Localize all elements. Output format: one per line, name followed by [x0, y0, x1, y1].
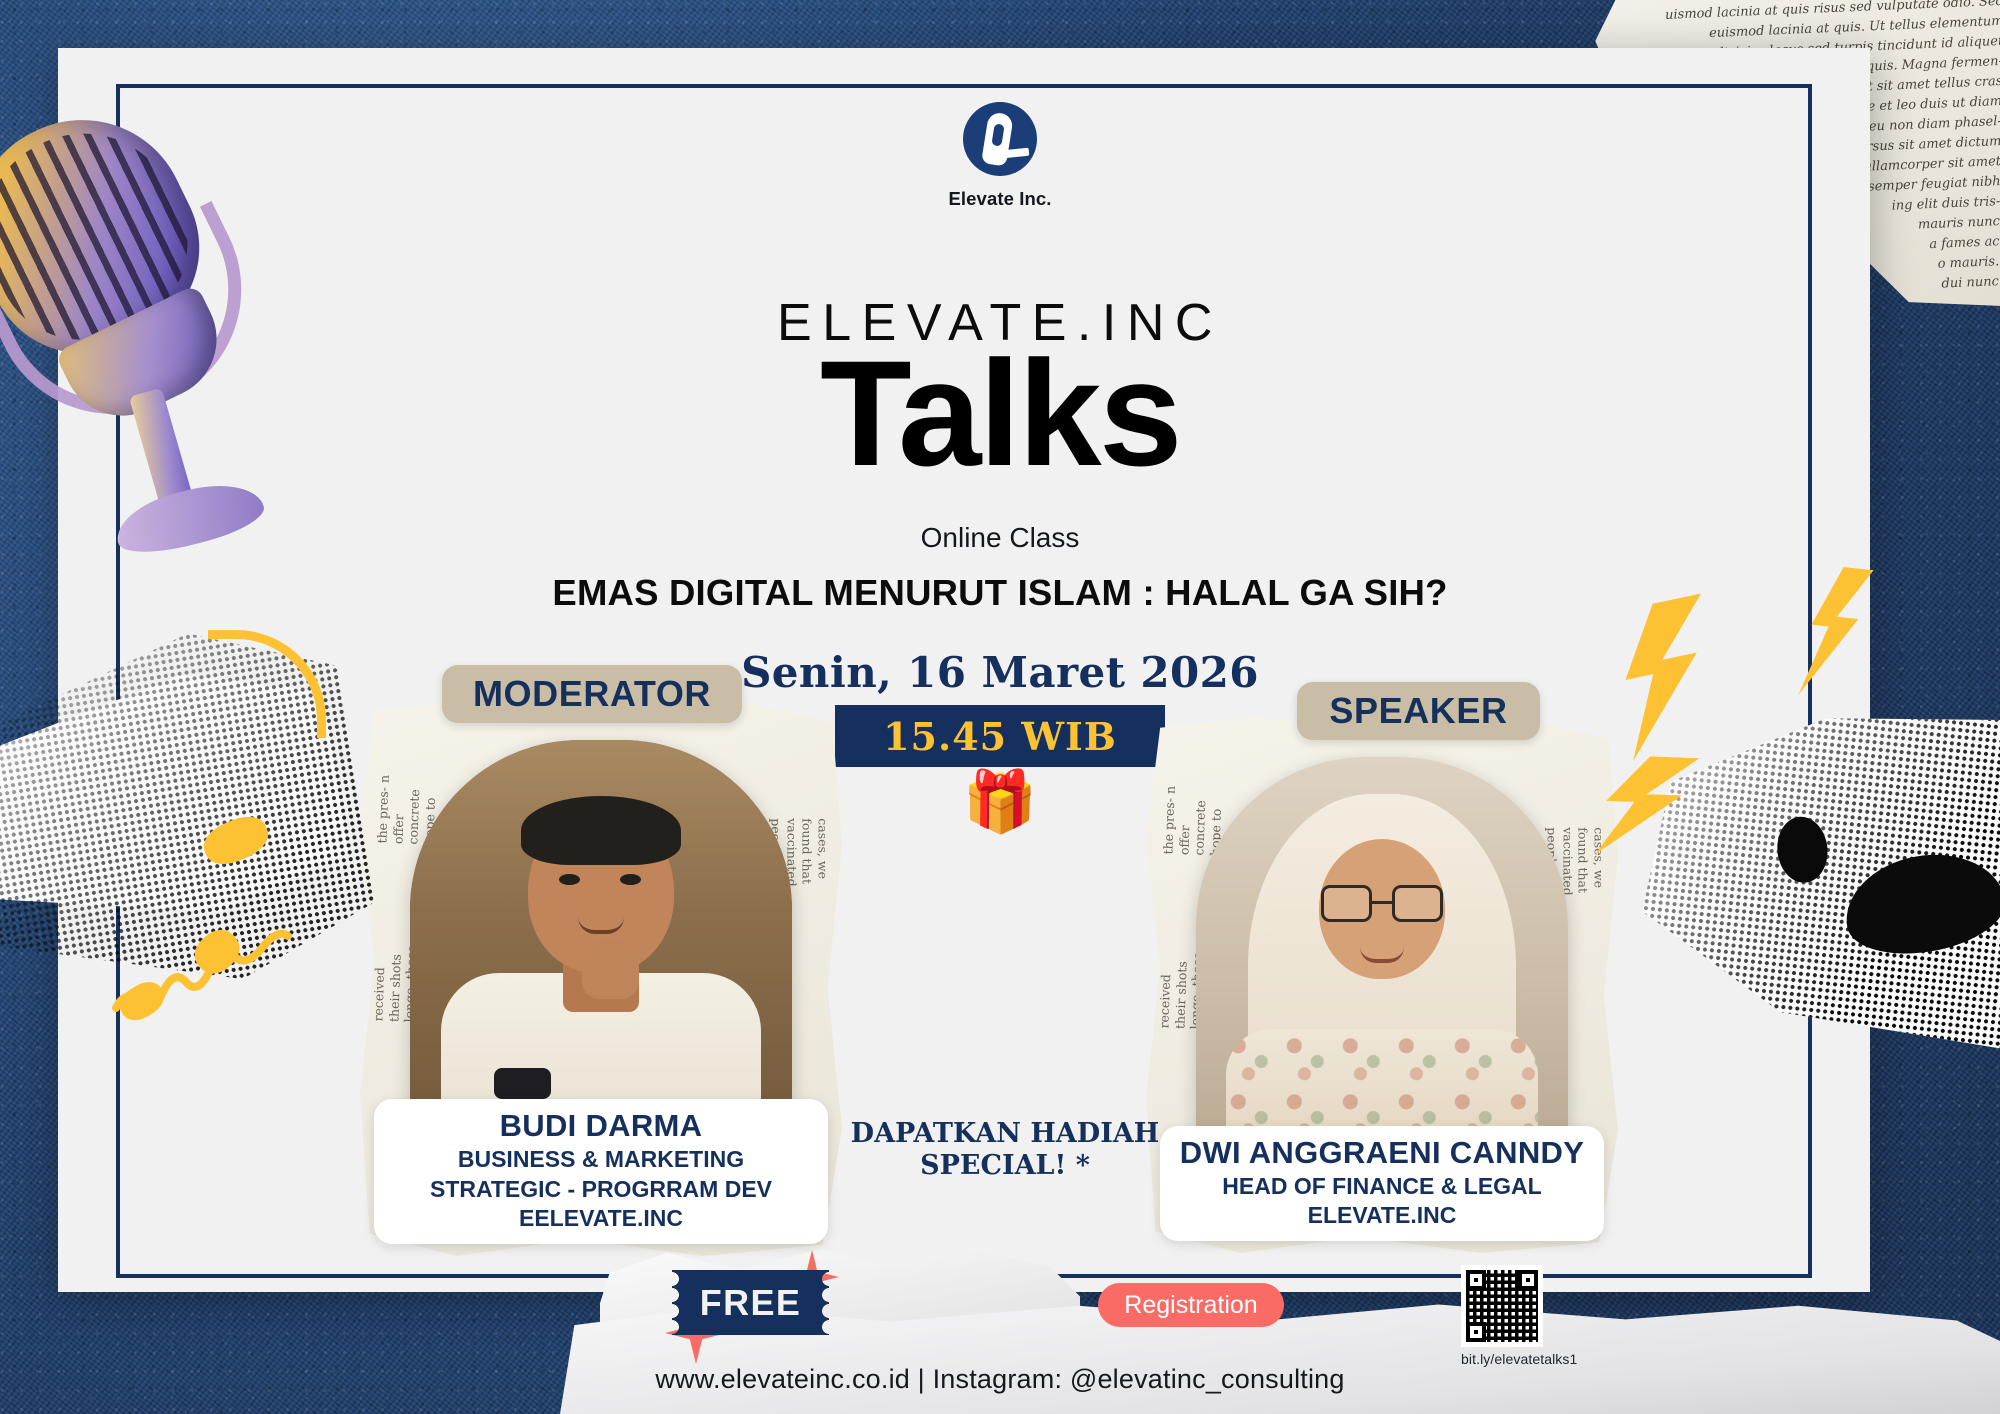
qr-code-icon[interactable] — [1461, 1265, 1543, 1347]
moderator-nameplate: BUDI DARMA BUSINESS & MARKETING STRATEGI… — [374, 1099, 828, 1244]
event-time-chip: 15.45 WIB — [835, 705, 1165, 767]
free-ticket-badge: FREE — [672, 1270, 829, 1335]
speaker-name: DWI ANGGRAENI CANNDY — [1168, 1136, 1596, 1170]
moderator-name: BUDI DARMA — [382, 1109, 820, 1143]
newsprint-line: dui nunc — [1941, 274, 1999, 291]
prize-line-1: DAPATKAN HADIAH — [840, 1118, 1170, 1150]
qr-code-block[interactable]: bit.ly/elevatetalks1 — [1461, 1265, 1577, 1367]
elevate-monogram-icon — [963, 102, 1037, 176]
speaker-card: the pres- n offer concrete hope to recei… — [1168, 735, 1596, 1235]
brand-logo-text: Elevate Inc. — [0, 188, 2000, 210]
event-topic: EMAS DIGITAL MENURUT ISLAM : HALAL GA SI… — [0, 572, 2000, 614]
brand-logo: Elevate Inc. — [0, 102, 2000, 210]
footer-contact: www.elevateinc.co.id | Instagram: @eleva… — [0, 1364, 2000, 1395]
event-format: Online Class — [0, 522, 2000, 554]
moderator-card: the pres- n offer concrete hope to recei… — [382, 718, 820, 1238]
monogram-crossbar — [1003, 148, 1030, 159]
halftone-megaphone-right-icon — [1632, 682, 2000, 1049]
speaker-org: ELEVATE.INC — [1168, 1202, 1596, 1229]
prize-note: DAPATKAN HADIAH SPECIAL! * — [840, 1118, 1170, 1183]
newsprint-line: o mauris. — [1937, 254, 1999, 272]
newsprint-line: a fames ac — [1929, 234, 2000, 252]
badge-moderator: MODERATOR — [442, 665, 742, 723]
speaker-nameplate: DWI ANGGRAENI CANNDY HEAD OF FINANCE & L… — [1160, 1126, 1604, 1241]
moderator-title: BUSINESS & MARKETING — [382, 1146, 820, 1173]
moderator-org: EELEVATE.INC — [382, 1205, 820, 1232]
speaker-title: HEAD OF FINANCE & LEGAL — [1168, 1173, 1596, 1200]
event-time: 15.45 WIB — [883, 714, 1117, 759]
prize-line-2: SPECIAL! * — [840, 1150, 1170, 1182]
registration-button[interactable]: Registration — [1098, 1283, 1284, 1327]
moderator-title-2: STRATEGIC - PROGRRAM DEV — [382, 1176, 820, 1203]
yellow-squiggle-decoration — [112, 930, 292, 1020]
speaker-photo — [1196, 757, 1568, 1169]
newsprint-line: mauris nunc — [1918, 214, 2000, 232]
badge-speaker: SPEAKER — [1297, 682, 1540, 740]
